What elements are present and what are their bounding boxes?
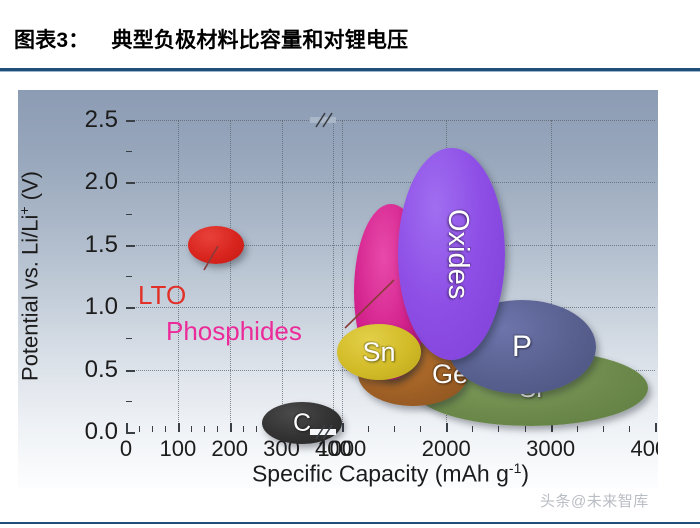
figure-title-text: 典型负极材料比容量和对锂电压 (112, 29, 409, 52)
x-axis-minor-tick (629, 426, 630, 432)
x-axis-minor-tick (152, 426, 153, 432)
x-axis-minor-tick (191, 426, 192, 432)
x-axis-tick-label: 3000 (526, 436, 575, 462)
x-axis-tick-label: 200 (211, 436, 248, 462)
page-title: 图表3： 典型负极材料比容量和对锂电压 (14, 24, 408, 54)
y-axis-tick (126, 370, 135, 372)
x-axis-tick (230, 423, 232, 432)
x-axis-minor-tick (498, 426, 499, 432)
y-axis-tick (126, 432, 135, 434)
y-axis-tick-labels: 0.00.51.01.52.02.5 (18, 90, 118, 488)
x-axis-minor-tick (603, 426, 604, 432)
x-axis-minor-tick (577, 426, 578, 432)
y-axis-tick (126, 307, 135, 309)
x-axis-minor-tick (165, 426, 166, 432)
x-axis-tick-label: 100 (159, 436, 196, 462)
x-axis-tick (178, 423, 180, 432)
gridline-vertical (333, 120, 334, 432)
gridline-vertical (230, 120, 231, 432)
x-axis-tick-labels: 01002003004001000200030004000 (126, 436, 655, 466)
x-axis-minor-tick (420, 426, 421, 432)
watermark: 头条@未来智库 (540, 490, 649, 511)
x-axis-tick-label: 4000 (631, 436, 658, 462)
x-axis-tick-label: 2000 (422, 436, 471, 462)
y-axis-tick-label: 2.5 (85, 106, 118, 134)
x-axis-minor-tick (256, 426, 257, 432)
x-axis-break-bottom-icon (310, 423, 336, 441)
region-lto[interactable] (188, 226, 244, 264)
x-axis-break-top-icon (310, 111, 336, 129)
y-axis-tick (126, 182, 135, 184)
gridline-horizontal (126, 120, 655, 121)
y-axis-tick-label: 1.5 (85, 231, 118, 259)
y-axis-minor-tick (126, 276, 132, 277)
y-axis-tick (126, 245, 135, 247)
x-axis-minor-tick (217, 426, 218, 432)
x-axis-tick (655, 423, 657, 432)
figure-header: 图表3： 典型负极材料比容量和对锂电压 (0, 0, 700, 76)
x-axis-tick (126, 423, 128, 432)
region-sn-label: Sn (337, 324, 421, 380)
y-axis-minor-tick (126, 338, 132, 339)
gridline-vertical (342, 120, 343, 432)
footer-divider (0, 522, 700, 524)
chart-figure: Potential vs. Li/Li+ (V) Specific Capaci… (18, 90, 658, 488)
x-axis-tick-label: 0 (120, 436, 132, 462)
lto-annotation-label: LTO (138, 280, 186, 311)
gridline-horizontal (126, 182, 655, 183)
y-axis-minor-tick (126, 151, 132, 152)
y-axis-tick (126, 120, 135, 122)
y-axis-tick-label: 1.0 (85, 293, 118, 321)
title-divider-light (0, 71, 700, 72)
y-axis-minor-tick (126, 401, 132, 402)
y-axis-tick-label: 0.5 (85, 356, 118, 384)
gridline-vertical (178, 120, 179, 432)
x-axis-tick (342, 423, 344, 432)
phosphides-annotation-label: Phosphides (166, 316, 302, 347)
x-axis-tick (446, 423, 448, 432)
x-axis-minor-tick (368, 426, 369, 432)
x-axis-minor-tick (204, 426, 205, 432)
x-axis-minor-tick (394, 426, 395, 432)
y-axis-tick-label: 0.0 (85, 418, 118, 446)
gridline-vertical (282, 120, 283, 432)
y-axis-tick-label: 2.0 (85, 168, 118, 196)
x-axis-minor-tick (139, 426, 140, 432)
x-axis-minor-tick (243, 426, 244, 432)
figure-number-label: 图表3： (14, 29, 89, 52)
region-sn[interactable]: Sn (337, 324, 421, 380)
region-oxides[interactable]: Oxides (398, 148, 505, 360)
x-axis-minor-tick (525, 426, 526, 432)
x-axis-minor-tick (472, 426, 473, 432)
y-axis-minor-tick (126, 214, 132, 215)
plot-area: Si Ge P Oxides Sn C (126, 120, 655, 432)
